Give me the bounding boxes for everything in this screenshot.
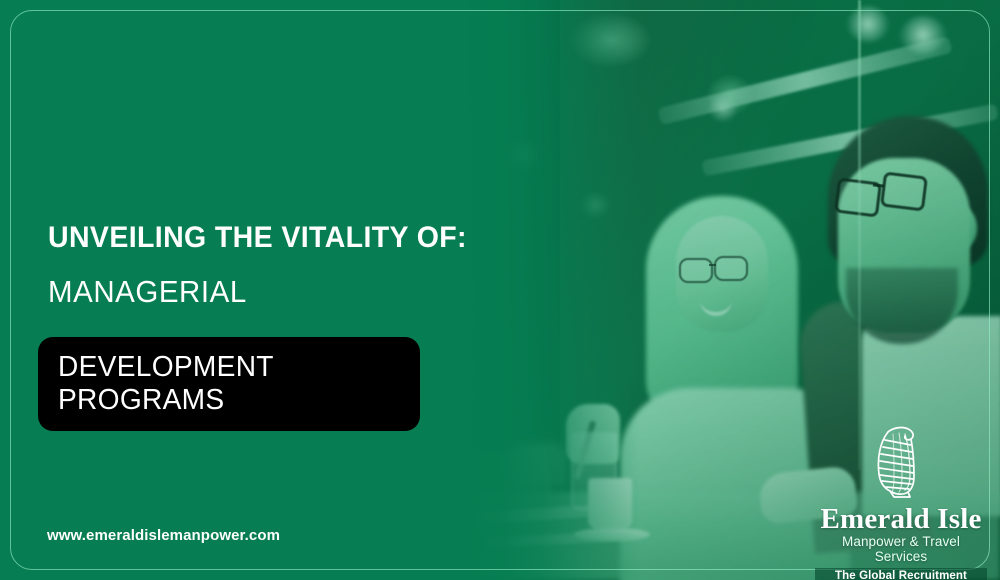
logo-company-name: Emerald Isle (815, 505, 987, 534)
website-url[interactable]: www.emeraldislemanpower.com (47, 527, 280, 544)
logo-subtitle: Manpower & Travel Services (815, 535, 987, 565)
headline-line-1: UNVEILING THE VITALITY OF: (48, 222, 467, 254)
highlight-box-text: DEVELOPMENT PROGRAMS (58, 351, 409, 417)
promotional-banner: UNVEILING THE VITALITY OF: MANAGERIAL DE… (0, 0, 1000, 580)
company-logo[interactable]: Emerald Isle Manpower & Travel Services … (815, 424, 987, 580)
highlight-box: DEVELOPMENT PROGRAMS (38, 337, 420, 431)
logo-tagline: The Global Recruitment Specialist (815, 568, 987, 580)
headline-block: UNVEILING THE VITALITY OF: MANAGERIAL (48, 222, 489, 308)
headline-line-2: MANAGERIAL (48, 276, 467, 309)
irish-harp-icon (864, 424, 938, 502)
